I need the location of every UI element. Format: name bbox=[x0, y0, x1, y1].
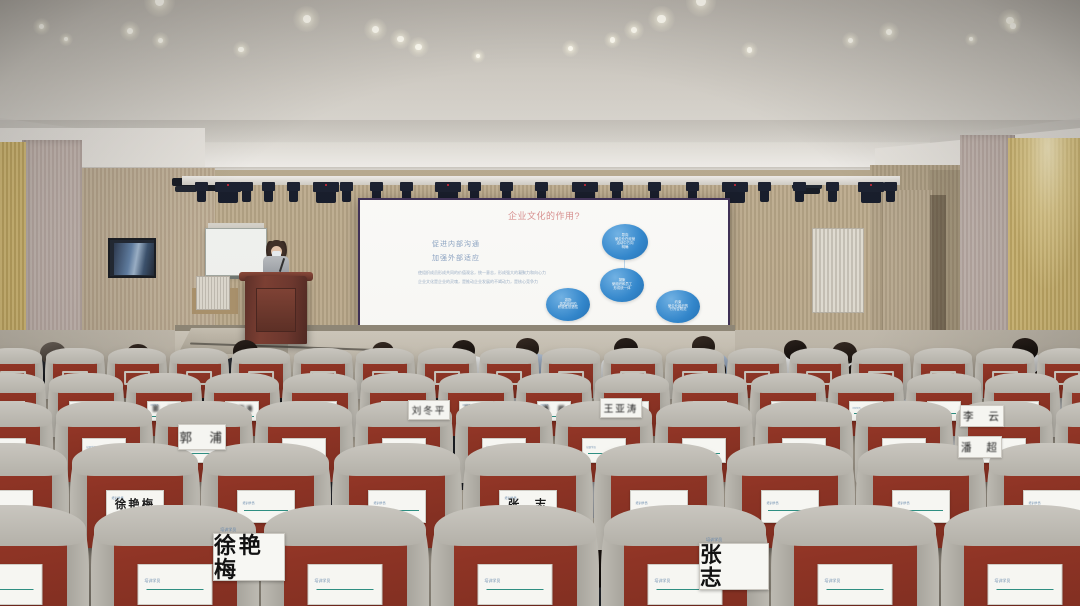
seat-headrest bbox=[127, 373, 200, 393]
slide-bubble-top: 导向使企业在经营活动中方向明确 bbox=[602, 224, 648, 260]
seat-headrest bbox=[774, 505, 936, 546]
seat-headrest bbox=[596, 443, 721, 476]
seat-headrest bbox=[256, 401, 351, 426]
slide-bubble-left: 激励激发组织的积极性创造性 bbox=[546, 288, 590, 321]
ceiling-speaker-1 bbox=[175, 186, 197, 192]
name-card-header: 培训学员 bbox=[586, 447, 596, 449]
stage-light-11 bbox=[500, 182, 513, 191]
name-card-header: 培训学员 bbox=[635, 502, 647, 505]
seat[interactable]: 培训学员 bbox=[950, 516, 1080, 606]
seat-headrest bbox=[294, 348, 352, 364]
seat-headrest bbox=[856, 401, 951, 426]
seat-headrest bbox=[264, 505, 426, 546]
stage-light-8 bbox=[400, 182, 413, 191]
slide-body-line-2: 加强外部适应 bbox=[432, 253, 480, 263]
stage-light-17 bbox=[722, 182, 748, 192]
stage-light-6 bbox=[340, 182, 353, 191]
stage-light-2 bbox=[240, 182, 253, 191]
seat-headrest bbox=[727, 443, 852, 476]
seat-headrest bbox=[156, 401, 251, 426]
seat-name-card: 培训学员 bbox=[988, 564, 1063, 605]
seat-name-card: 王亚涛 bbox=[600, 398, 642, 418]
stage-light-19 bbox=[793, 182, 806, 191]
seat-headrest bbox=[49, 373, 122, 393]
seat-headrest bbox=[542, 348, 600, 364]
whiteboard bbox=[205, 228, 267, 276]
radiator-right bbox=[812, 228, 864, 313]
radiator-left bbox=[196, 276, 230, 310]
name-card-header: 培训学员 bbox=[314, 579, 330, 583]
stage-light-0 bbox=[195, 182, 208, 191]
stage-light-9 bbox=[435, 182, 461, 192]
right-partition-shadow bbox=[930, 195, 946, 350]
seat-headrest bbox=[656, 401, 751, 426]
seat-name-card: 刘冬平 bbox=[408, 400, 450, 420]
stage-light-3 bbox=[262, 182, 275, 191]
slide-bubble-right: 约束使企业组织的行为合规范 bbox=[656, 290, 700, 323]
projection-screen: 企业文化的作用? 促进内部沟通 加强外部适应 使组织成员形成共同的价值观念，统一… bbox=[360, 200, 728, 328]
seat-headrest bbox=[170, 348, 228, 364]
downlight-13 bbox=[238, 47, 243, 52]
seat-name-card: 培训学员 bbox=[818, 564, 893, 605]
name-card-header: 培训学员 bbox=[824, 579, 840, 583]
seat-headrest bbox=[439, 373, 512, 393]
stage-light-20 bbox=[826, 182, 839, 191]
stage-light-indicator-21 bbox=[870, 184, 872, 186]
seat-headrest bbox=[604, 348, 662, 364]
seat-headrest bbox=[673, 373, 746, 393]
seat-headrest bbox=[334, 443, 459, 476]
name-card-underline bbox=[827, 589, 884, 590]
slide-title: 企业文化的作用? bbox=[360, 209, 728, 222]
seat-name-card: 培训学员 bbox=[0, 564, 43, 605]
seat-headrest bbox=[985, 373, 1058, 393]
stage-light-1 bbox=[215, 182, 241, 192]
seat-headrest bbox=[465, 443, 590, 476]
stage-light-indicator-9 bbox=[447, 184, 449, 186]
name-card-underline bbox=[317, 589, 374, 590]
downlight-3 bbox=[657, 15, 665, 23]
seat-headrest bbox=[852, 348, 910, 364]
stage-light-12 bbox=[535, 182, 548, 191]
seat-headrest bbox=[418, 348, 476, 364]
seat-name-card: 潘 超 bbox=[958, 436, 1002, 458]
slide-bubble-mid: 凝聚使组织和员工形成统一体 bbox=[600, 268, 644, 302]
name-card-header: 培训学员 bbox=[897, 502, 909, 505]
name-card-name: 郭 浦 bbox=[180, 428, 225, 446]
seat-headrest bbox=[480, 348, 538, 364]
name-card-underline bbox=[244, 510, 288, 511]
slide-body-line-1: 促进内部沟通 bbox=[432, 239, 480, 249]
seat[interactable]: 培训学员 bbox=[440, 516, 590, 606]
seat-headrest bbox=[790, 348, 848, 364]
stage-light-indicator-17 bbox=[734, 184, 736, 186]
name-card-header: 培训学员 bbox=[242, 502, 254, 505]
seat-headrest bbox=[595, 373, 668, 393]
stage-light-10 bbox=[468, 182, 481, 191]
stage-light-21 bbox=[858, 182, 884, 192]
name-card-underline bbox=[0, 589, 33, 590]
downlight-18 bbox=[1010, 23, 1015, 28]
seat-name-card: 培训学员 bbox=[138, 564, 213, 605]
wall-monitor bbox=[108, 238, 156, 278]
downlight-16 bbox=[747, 47, 752, 52]
stage-light-indicator-13 bbox=[584, 184, 586, 186]
seat-headrest bbox=[434, 505, 596, 546]
seat-headrest bbox=[989, 443, 1080, 476]
name-card-name: 张 志 bbox=[700, 544, 768, 589]
seat-headrest bbox=[914, 348, 972, 364]
seat-headrest bbox=[361, 373, 434, 393]
projection-screen-frame: 企业文化的作用? 促进内部沟通 加强外部适应 使组织成员形成共同的价值观念，统一… bbox=[358, 198, 730, 330]
seat-headrest bbox=[456, 401, 551, 426]
stage-light-18 bbox=[758, 182, 771, 191]
name-card-header: 培训学员 bbox=[654, 579, 670, 583]
seat-headrest bbox=[283, 373, 356, 393]
seat-headrest bbox=[108, 348, 166, 364]
wall-monitor-screen bbox=[114, 243, 154, 275]
seat[interactable]: 培训学员 bbox=[270, 516, 420, 606]
stage-light-14 bbox=[610, 182, 623, 191]
seat-headrest bbox=[356, 348, 414, 364]
seat-headrest bbox=[756, 401, 851, 426]
name-card-underline bbox=[147, 589, 204, 590]
name-card-name: 徐艳梅 bbox=[214, 534, 284, 580]
lectern-front-panel bbox=[256, 288, 296, 332]
seat-name-card: 郭 浦 bbox=[178, 424, 226, 450]
seat-headrest bbox=[976, 348, 1034, 364]
seat-name-card-highlighted: 培训学员张 志 bbox=[699, 543, 769, 590]
seat-headrest bbox=[56, 401, 151, 426]
name-card-name: 王亚涛 bbox=[604, 401, 639, 415]
stage-light-5 bbox=[313, 182, 339, 192]
name-card-name: 刘冬平 bbox=[412, 403, 447, 417]
seat-headrest bbox=[944, 505, 1080, 546]
right-panel-light-glow bbox=[1008, 138, 1080, 288]
seat-headrest bbox=[1038, 348, 1080, 364]
seat-name-card-highlighted: 培训学员徐艳梅 bbox=[213, 533, 285, 581]
seat-headrest bbox=[46, 348, 104, 364]
right-partition-wall bbox=[882, 190, 932, 350]
seat-headrest bbox=[0, 348, 42, 364]
name-card-header: 培训学员 bbox=[994, 579, 1010, 583]
seat-headrest bbox=[232, 348, 290, 364]
name-card-underline bbox=[997, 589, 1054, 590]
slide-bullet-1: 使组织成员形成共同的价值观念，统一意志，形成强大的凝聚力和向心力 bbox=[418, 270, 546, 276]
seat-headrest bbox=[205, 373, 278, 393]
seat-name-card: 李 云 bbox=[960, 405, 1004, 427]
name-card-header: 培训学员 bbox=[220, 528, 236, 532]
seat-headrest bbox=[751, 373, 824, 393]
stage-light-indicator-5 bbox=[325, 184, 327, 186]
name-card-underline bbox=[487, 589, 544, 590]
seat-headrest bbox=[728, 348, 786, 364]
seat[interactable]: 培训学员 bbox=[0, 516, 80, 606]
seat[interactable]: 培训学员 bbox=[780, 516, 930, 606]
stage-light-13 bbox=[572, 182, 598, 192]
name-card-name: 李 云 bbox=[963, 409, 1001, 424]
name-card-header: 培训学员 bbox=[484, 579, 500, 583]
seat-headrest bbox=[907, 373, 980, 393]
name-card-header: 培训学员 bbox=[144, 579, 160, 583]
stage-light-indicator-1 bbox=[227, 184, 229, 186]
seat-headrest bbox=[666, 348, 724, 364]
seat-headrest bbox=[604, 505, 766, 546]
downlight-11 bbox=[610, 37, 615, 42]
name-card-name: 潘 超 bbox=[961, 440, 999, 455]
seat-headrest bbox=[829, 373, 902, 393]
stage-light-4 bbox=[287, 182, 300, 191]
slide-bullet-2: 企业文化是企业的灵魂，是推动企业发展的不竭动力，是核心竞争力 bbox=[418, 279, 538, 285]
name-card-header: 培训学员 bbox=[766, 502, 778, 505]
stage-light-15 bbox=[648, 182, 661, 191]
seat-name-card: 培训学员 bbox=[478, 564, 553, 605]
stage-light-22 bbox=[884, 182, 897, 191]
stage-light-7 bbox=[370, 182, 383, 191]
seat-headrest bbox=[517, 373, 590, 393]
stage-light-16 bbox=[686, 182, 699, 191]
auditorium-photo: 企业文化的作用? 促进内部沟通 加强外部适应 使组织成员形成共同的价值观念，统一… bbox=[0, 0, 1080, 606]
seat-name-card: 培训学员 bbox=[308, 564, 383, 605]
